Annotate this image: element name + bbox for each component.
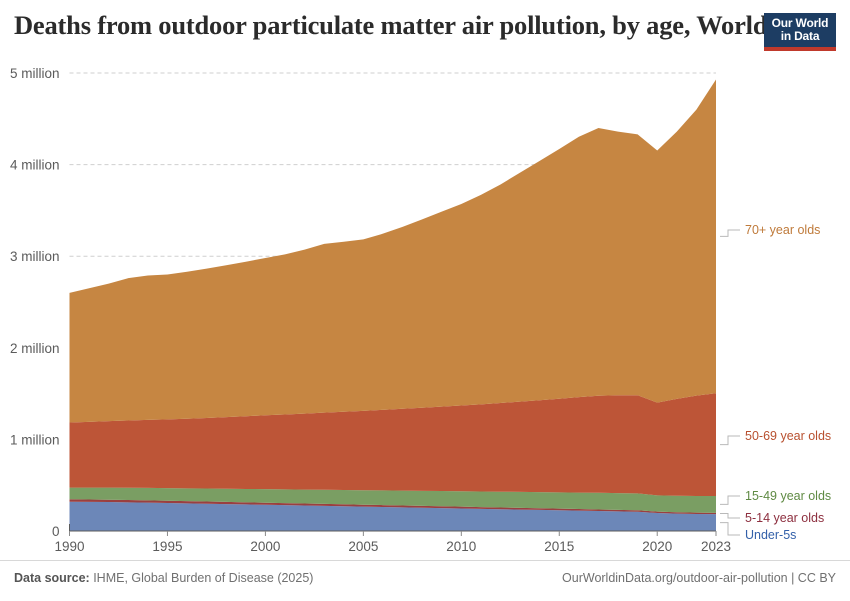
- owid-logo[interactable]: Our World in Data: [764, 13, 836, 51]
- y-tick-label: 5 million: [10, 66, 60, 81]
- legend-connector: [720, 496, 740, 504]
- legend-label-50-69-year-olds[interactable]: 50-69 year olds: [745, 429, 831, 443]
- legend-connector: [720, 230, 740, 236]
- x-tick-label: 1990: [54, 539, 84, 554]
- y-tick-label: 4 million: [10, 158, 60, 173]
- legend-label-5-14-year-olds[interactable]: 5-14 year olds: [745, 511, 824, 525]
- area-series-70-year-olds[interactable]: [70, 79, 717, 422]
- x-tick-label: 2023: [701, 539, 731, 554]
- data-source-text: Data source: IHME, Global Burden of Dise…: [14, 571, 313, 585]
- x-tick-label: 2020: [642, 539, 672, 554]
- y-axis-tick-labels: 01 million2 million3 million4 million5 m…: [10, 66, 60, 539]
- page-title: Deaths from outdoor particulate matter a…: [14, 10, 734, 41]
- chart-header: Deaths from outdoor particulate matter a…: [0, 0, 850, 62]
- x-axis-tick-labels: 19901995200020052010201520202023: [54, 539, 731, 554]
- data-source-label: Data source:: [14, 571, 90, 585]
- x-tick-label: 2015: [544, 539, 574, 554]
- logo-line-2: in Data: [764, 30, 836, 43]
- y-tick-label: 3 million: [10, 249, 60, 264]
- data-source-value: IHME, Global Burden of Disease (2025): [90, 571, 314, 585]
- chart-legend[interactable]: 70+ year olds50-69 year olds15-49 year o…: [720, 223, 831, 542]
- footer-url-link[interactable]: OurWorldinData.org/outdoor-air-pollution…: [562, 571, 836, 585]
- legend-label-15-49-year-olds[interactable]: 15-49 year olds: [745, 489, 831, 503]
- chart-footer: Data source: IHME, Global Burden of Dise…: [0, 560, 850, 601]
- y-tick-label: 2 million: [10, 341, 60, 356]
- x-tick-label: 1995: [152, 539, 182, 554]
- chart-plot-area[interactable]: 01 million2 million3 million4 million5 m…: [0, 62, 850, 560]
- legend-label-under-5s[interactable]: Under-5s: [745, 528, 796, 542]
- area-series-group[interactable]: [70, 79, 717, 531]
- legend-connector: [720, 436, 740, 445]
- x-tick-label: 2010: [446, 539, 476, 554]
- stacked-area-chart[interactable]: 01 million2 million3 million4 million5 m…: [0, 62, 850, 560]
- y-tick-label: 0: [52, 524, 60, 539]
- x-tick-label: 2000: [250, 539, 280, 554]
- legend-connector: [720, 513, 740, 518]
- legend-label-70-year-olds[interactable]: 70+ year olds: [745, 223, 820, 237]
- legend-connector: [720, 523, 740, 535]
- x-tick-label: 2005: [348, 539, 378, 554]
- y-tick-label: 1 million: [10, 432, 60, 447]
